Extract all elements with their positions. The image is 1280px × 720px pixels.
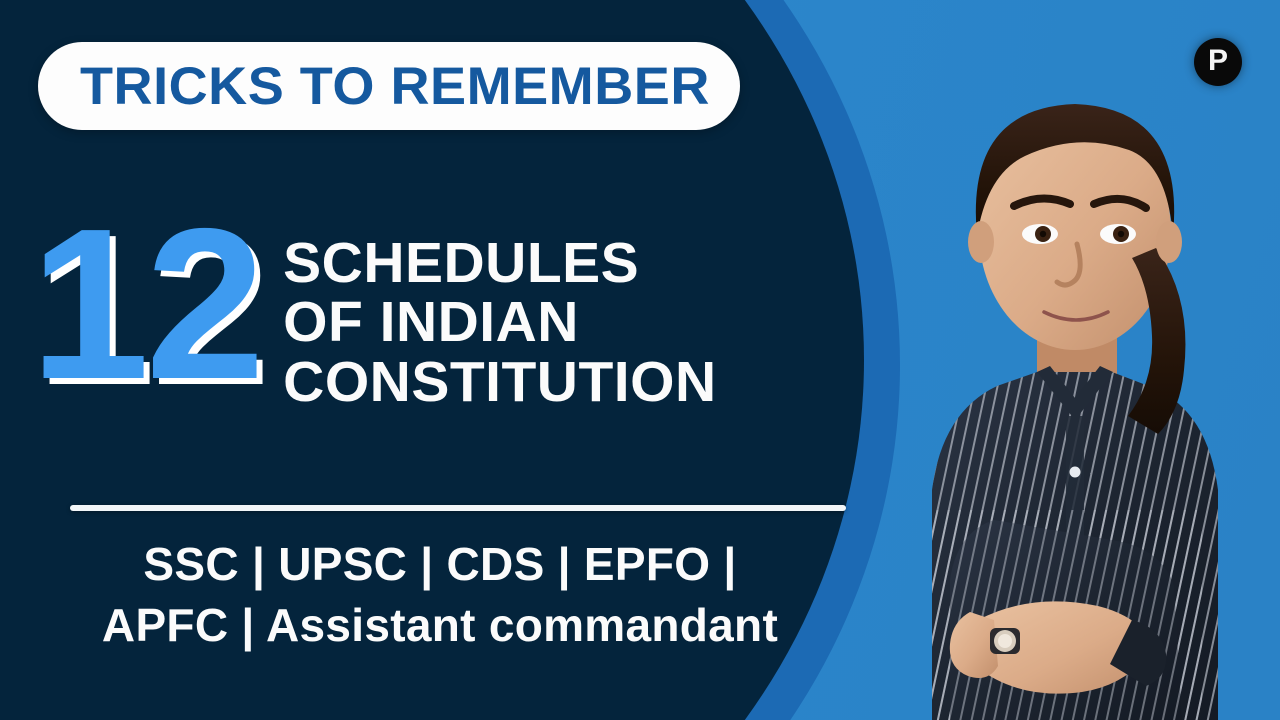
page-title: SCHEDULES OF INDIAN CONSTITUTION [283, 218, 716, 412]
exam-list-line-1: SSC | UPSC | CDS | EPFO | [40, 534, 840, 595]
brand-p-logo-icon: P [1208, 46, 1228, 76]
headline-block: 12 SCHEDULES OF INDIAN CONSTITUTION [30, 218, 717, 412]
presenter-photo [782, 20, 1252, 720]
tricks-to-remember-badge: TRICKS TO REMEMBER [38, 42, 740, 130]
title-line-1: SCHEDULES [283, 234, 716, 293]
title-line-3: CONSTITUTION [283, 353, 716, 412]
thumbnail-canvas: P TRICKS TO REMEMBER 12 SCHEDULES OF IND… [0, 0, 1280, 720]
exam-list-line-2: APFC | Assistant commandant [40, 595, 840, 656]
brand-logo[interactable]: P [1194, 38, 1242, 86]
badge-label: TRICKS TO REMEMBER [80, 56, 710, 117]
schedule-count-number: 12 [30, 212, 261, 397]
section-divider [70, 505, 846, 511]
exam-list: SSC | UPSC | CDS | EPFO | APFC | Assista… [40, 534, 840, 655]
title-line-2: OF INDIAN [283, 293, 716, 352]
